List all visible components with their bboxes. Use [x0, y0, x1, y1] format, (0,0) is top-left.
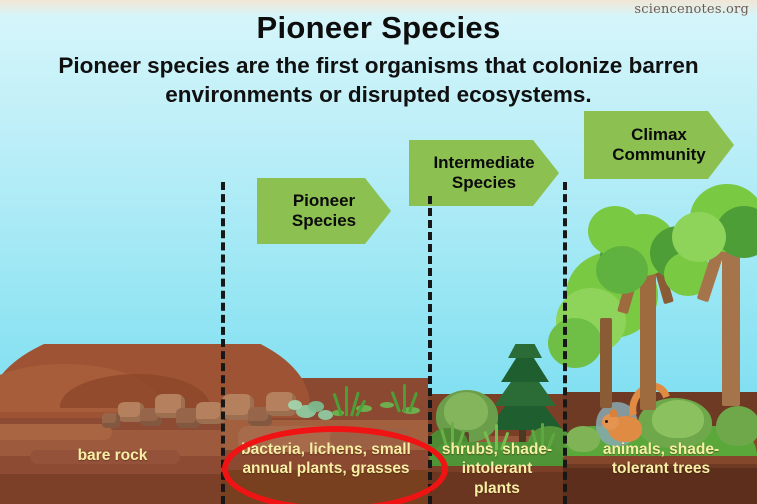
- stage-arrow-label: Intermediate Species: [433, 153, 534, 194]
- tree-trunk: [600, 318, 612, 408]
- page-subtitle: Pioneer species are the first organisms …: [22, 52, 735, 110]
- soil-layer-zone1-deep: [0, 474, 222, 504]
- deciduous-tree-icon: [548, 318, 602, 368]
- zone-caption-bare-rock: bare rock: [10, 446, 215, 465]
- stage-arrow-label: Pioneer Species: [292, 191, 356, 232]
- deciduous-tree-icon: [672, 212, 726, 262]
- squirrel-icon: [610, 409, 617, 417]
- page-title: Pioneer Species: [0, 10, 757, 46]
- rock-ledge: [0, 424, 112, 440]
- lichen-patch-icon: [288, 400, 302, 410]
- zone-caption-intermediate: shrubs, shade- intolerant plants: [434, 440, 560, 498]
- stage-arrow-climax-community[interactable]: Climax Community: [584, 111, 734, 179]
- conifer-tree-icon: [508, 344, 542, 358]
- highlight-ellipse: [222, 426, 448, 504]
- stage-arrow-pioneer-species[interactable]: Pioneer Species: [257, 178, 391, 244]
- rock-boulder-icon: [102, 413, 120, 428]
- zone-divider-1: [221, 182, 225, 504]
- stage-arrow-label: Climax Community: [612, 125, 706, 166]
- deciduous-tree-icon: [596, 246, 648, 294]
- infographic-canvas: Pioneer Species Intermediate Species Cli…: [0, 0, 757, 504]
- lichen-patch-icon: [318, 410, 333, 420]
- moss-patch-icon: [380, 402, 394, 408]
- tree-trunk: [722, 236, 740, 406]
- zone-divider-3: [563, 182, 567, 504]
- rock-boulder-icon: [196, 402, 224, 424]
- squirrel-icon: [605, 420, 608, 423]
- zone-caption-climax: animals, shade- tolerant trees: [570, 440, 752, 479]
